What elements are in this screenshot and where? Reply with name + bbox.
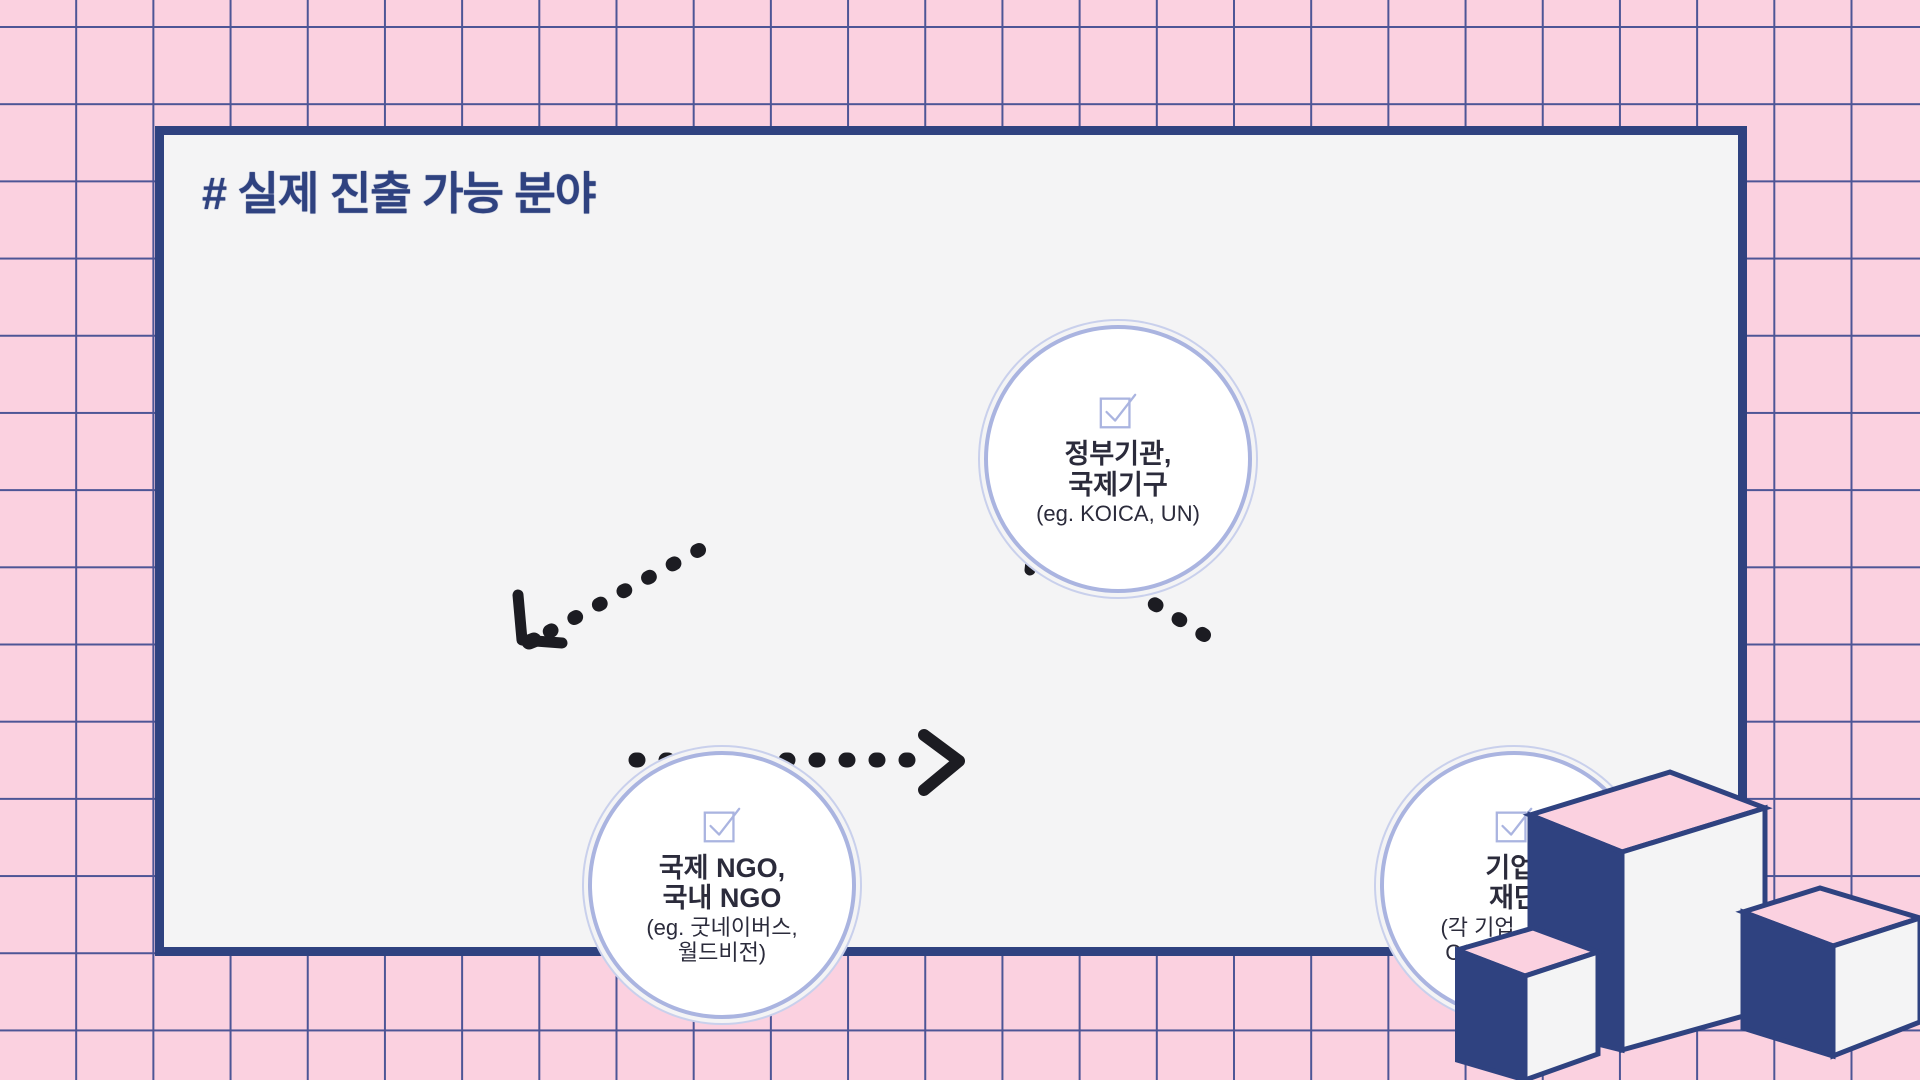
isometric-cubes-decoration: [1455, 760, 1920, 1080]
slide-canvas: # 실제 진출 가능 분야: [0, 0, 1920, 1080]
node-ngo[interactable]: 국제 NGO, 국내 NGO (eg. 굿네이버스, 월드비전): [588, 751, 856, 1019]
checkbox-checked-icon: [1097, 391, 1139, 433]
cube-small: [1457, 928, 1598, 1080]
node-government[interactable]: 정부기관, 국제기구 (eg. KOICA, UN): [984, 325, 1252, 593]
page-title: # 실제 진출 가능 분야: [202, 157, 595, 222]
checkbox-checked-icon: [701, 805, 743, 847]
cube-medium: [1743, 888, 1920, 1056]
node-title: 정부기관, 국제기구: [1065, 439, 1172, 500]
node-subtitle: (eg. 굿네이버스, 월드비전): [646, 915, 797, 966]
node-subtitle: (eg. KOICA, UN): [1036, 501, 1200, 526]
node-title: 국제 NGO, 국내 NGO: [659, 853, 785, 914]
arrow-top-to-ngo: [518, 550, 699, 643]
